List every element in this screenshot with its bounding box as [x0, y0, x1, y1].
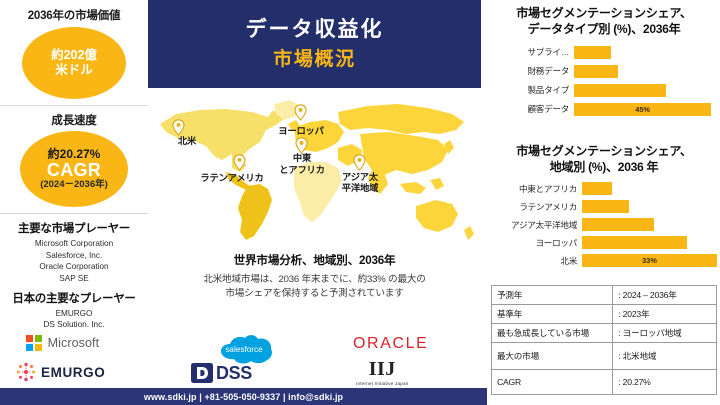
- market-value-amount: 約202億: [51, 48, 97, 63]
- chart-region-title-2: 地域別 (%)、2036 年: [491, 160, 717, 176]
- chart-data-type-title-1: 市場セグメンテーションシェア、: [491, 6, 717, 22]
- footer-contact: www.sdki.jp | +81-505-050-9337 | info@sd…: [144, 392, 343, 402]
- footer-bar: www.sdki.jp | +81-505-050-9337 | info@sd…: [0, 388, 487, 405]
- map-pin-asia-pacific-icon: [353, 154, 366, 171]
- bar-row: 製品タイプ: [491, 81, 717, 100]
- hero-subtitle: 市場概況: [273, 49, 355, 72]
- table-cell-value: : 20.27%: [613, 370, 717, 395]
- logo-dss-label: DSS: [216, 363, 252, 384]
- right-panel: 市場セグメンテーションシェア、 データタイプ別 (%)、2036年 サプライ… …: [487, 0, 720, 405]
- bar-label: 北米: [491, 255, 582, 267]
- chart-data-type-bars: サプライ… 財務データ 製品タイプ: [491, 43, 717, 119]
- growth-rate-panel: 成長速度 約20.27% CAGR (2024－2036年): [0, 106, 148, 214]
- microsoft-squares-icon: [26, 335, 42, 351]
- jp-players-title: 日本の主要なプレーヤー: [0, 290, 148, 306]
- logo-microsoft: Microsoft: [26, 335, 99, 351]
- logo-microsoft-label: Microsoft: [48, 336, 100, 350]
- logo-emurgo-label: EMURGO: [41, 365, 105, 380]
- left-sidebar: 2036年の市場価値 約202億 米ドル 成長速度 約20.27% CAGR (…: [0, 0, 148, 330]
- map-pin-middle-east-africa-icon: [295, 137, 308, 154]
- logo-iij-label: IIJ: [369, 358, 396, 381]
- bar-row: 財務データ: [491, 62, 717, 81]
- bar-fill: [582, 182, 612, 195]
- table-cell-key: 予測年: [492, 286, 613, 305]
- bar-fill: [582, 236, 687, 249]
- chart-data-type: 市場セグメンテーションシェア、 データタイプ別 (%)、2036年 サプライ… …: [491, 6, 717, 119]
- bar-label: ヨーロッパ: [491, 237, 582, 249]
- map-caption-line-1: 北米地域市場は、2036 年末までに、約33% の最大の: [148, 273, 481, 287]
- bar-row: サプライ…: [491, 43, 717, 62]
- market-value-title: 2036年の市場価値: [0, 7, 148, 23]
- summary-table: 予測年 : 2024 – 2036年 基準年 : 2023年 最も急成長している…: [491, 285, 717, 395]
- bar-row: 顧客データ 45%: [491, 100, 717, 119]
- chart-region: 市場セグメンテーションシェア、 地域別 (%)、2036 年 中東とアフリカ ラ…: [491, 144, 717, 270]
- table-row: 予測年 : 2024 – 2036年: [492, 286, 717, 305]
- svg-text:salesforce: salesforce: [225, 345, 263, 354]
- bar-label: ラテンアメリカ: [491, 201, 582, 213]
- bar-fill: [582, 200, 629, 213]
- key-players-panel: 主要な市場プレーヤー Microsoft Corporation Salesfo…: [0, 214, 148, 342]
- bar-fill: [582, 218, 654, 231]
- bar-label: 中東とアフリカ: [491, 183, 582, 195]
- bar-fill: 33%: [582, 254, 717, 267]
- table-cell-key: 最も急成長している市場: [492, 324, 613, 343]
- chart-data-type-title-2: データタイプ別 (%)、2036年: [491, 22, 717, 38]
- logo-oracle-label: ORACLE: [353, 335, 428, 353]
- bar-track: 45%: [574, 103, 717, 116]
- key-players-title: 主要な市場プレーヤー: [0, 220, 148, 236]
- chart-region-title-1: 市場セグメンテーションシェア、: [491, 144, 717, 160]
- bar-label: 財務データ: [491, 65, 574, 77]
- bar-label: 製品タイプ: [491, 84, 574, 96]
- table-cell-value: : 2023年: [613, 305, 717, 324]
- logo-iij-sublabel: Internet Initiative Japan: [356, 381, 409, 386]
- bar-row: アジア太平洋地域: [491, 216, 717, 234]
- key-player-item: SAP SE: [0, 273, 148, 285]
- logo-emurgo: EMURGO: [15, 361, 105, 383]
- bar-value: 33%: [642, 256, 657, 265]
- jp-player-item: EMURGO: [0, 308, 148, 320]
- bar-track: [582, 236, 717, 249]
- bar-track: [574, 46, 717, 59]
- infographic-root: 2036年の市場価値 約202億 米ドル 成長速度 約20.27% CAGR (…: [0, 0, 720, 405]
- bar-row: ヨーロッパ: [491, 234, 717, 252]
- map-caption-title: 世界市場分析、地域別、2036年: [148, 252, 481, 268]
- hero-title: データ収益化: [246, 17, 384, 42]
- bar-track: [582, 218, 717, 231]
- cagr-label: CAGR: [47, 161, 101, 180]
- bar-label: 顧客データ: [491, 103, 574, 115]
- bar-row: 中東とアフリカ: [491, 180, 717, 198]
- logo-strip: Microsoft EMURGO: [0, 330, 487, 387]
- bar-track: [574, 65, 717, 78]
- map-pin-latin-america-icon: [233, 154, 246, 171]
- table-row: 最も急成長している市場 : ヨーロッパ地域: [492, 324, 717, 343]
- key-player-item: Microsoft Corporation: [0, 238, 148, 250]
- dss-d-icon: [190, 362, 214, 384]
- logo-dss: DSS: [190, 362, 252, 384]
- world-map: 北米 ヨーロッパ アジア太 平洋地域 中東 とアフリカ ラテンアメリカ: [148, 90, 481, 250]
- bar-label: サプライ…: [491, 46, 574, 58]
- bar-row: ラテンアメリカ: [491, 198, 717, 216]
- bar-track: [582, 200, 717, 213]
- table-cell-key: 最大の市場: [492, 343, 613, 370]
- bar-track: [574, 84, 717, 97]
- map-caption-line-2: 市場シェアを保持すると予測されています: [148, 287, 481, 301]
- table-cell-key: 基準年: [492, 305, 613, 324]
- cagr-percent: 約20.27%: [48, 148, 101, 161]
- growth-rate-title: 成長速度: [0, 112, 148, 128]
- emurgo-burst-icon: [15, 361, 37, 383]
- logo-oracle: ORACLE: [353, 335, 428, 353]
- bar-track: [582, 182, 717, 195]
- map-pin-europe-icon: [294, 104, 307, 121]
- table-row: 基準年 : 2023年: [492, 305, 717, 324]
- market-value-currency: 米ドル: [55, 63, 93, 78]
- table-row: CAGR : 20.27%: [492, 370, 717, 395]
- bar-label: アジア太平洋地域: [491, 219, 582, 231]
- bar-fill: [574, 46, 611, 59]
- chart-region-bars: 中東とアフリカ ラテンアメリカ アジ: [491, 180, 717, 270]
- logo-iij: IIJ Internet Initiative Japan: [356, 358, 409, 386]
- market-value-bubble: 約202億 米ドル: [22, 27, 126, 99]
- table-cell-value: : 北米地域: [613, 343, 717, 370]
- bar-fill: [574, 65, 618, 78]
- map-label-middle-east-africa-1: 中東: [270, 153, 334, 163]
- table-cell-key: CAGR: [492, 370, 613, 395]
- hero-banner: データ収益化 市場概況: [148, 0, 481, 88]
- table-cell-value: : ヨーロッパ地域: [613, 324, 717, 343]
- bar-fill: [574, 84, 666, 97]
- map-caption: 世界市場分析、地域別、2036年 北米地域市場は、2036 年末までに、約33%…: [148, 252, 481, 301]
- table-row: 最大の市場 : 北米地域: [492, 343, 717, 370]
- table-cell-value: : 2024 – 2036年: [613, 286, 717, 305]
- map-label-north-america: 北米: [157, 136, 217, 146]
- center-panel: データ収益化 市場概況: [148, 0, 481, 330]
- map-label-europe: ヨーロッパ: [261, 126, 341, 136]
- cagr-period: (2024－2036年): [40, 180, 108, 190]
- bar-row: 北米 33%: [491, 252, 717, 270]
- cagr-bubble: 約20.27% CAGR (2024－2036年): [20, 131, 128, 207]
- key-player-item: Salesforce, Inc.: [0, 250, 148, 262]
- map-label-asia-pacific-2: 平洋地域: [326, 183, 394, 193]
- bar-track: 33%: [582, 254, 717, 267]
- key-player-item: Oracle Corporation: [0, 261, 148, 273]
- bar-fill: 45%: [574, 103, 711, 116]
- map-label-latin-america: ラテンアメリカ: [177, 173, 287, 183]
- map-pin-north-america-icon: [172, 119, 185, 136]
- bar-value: 45%: [635, 105, 650, 114]
- market-value-panel: 2036年の市場価値 約202億 米ドル: [0, 0, 148, 106]
